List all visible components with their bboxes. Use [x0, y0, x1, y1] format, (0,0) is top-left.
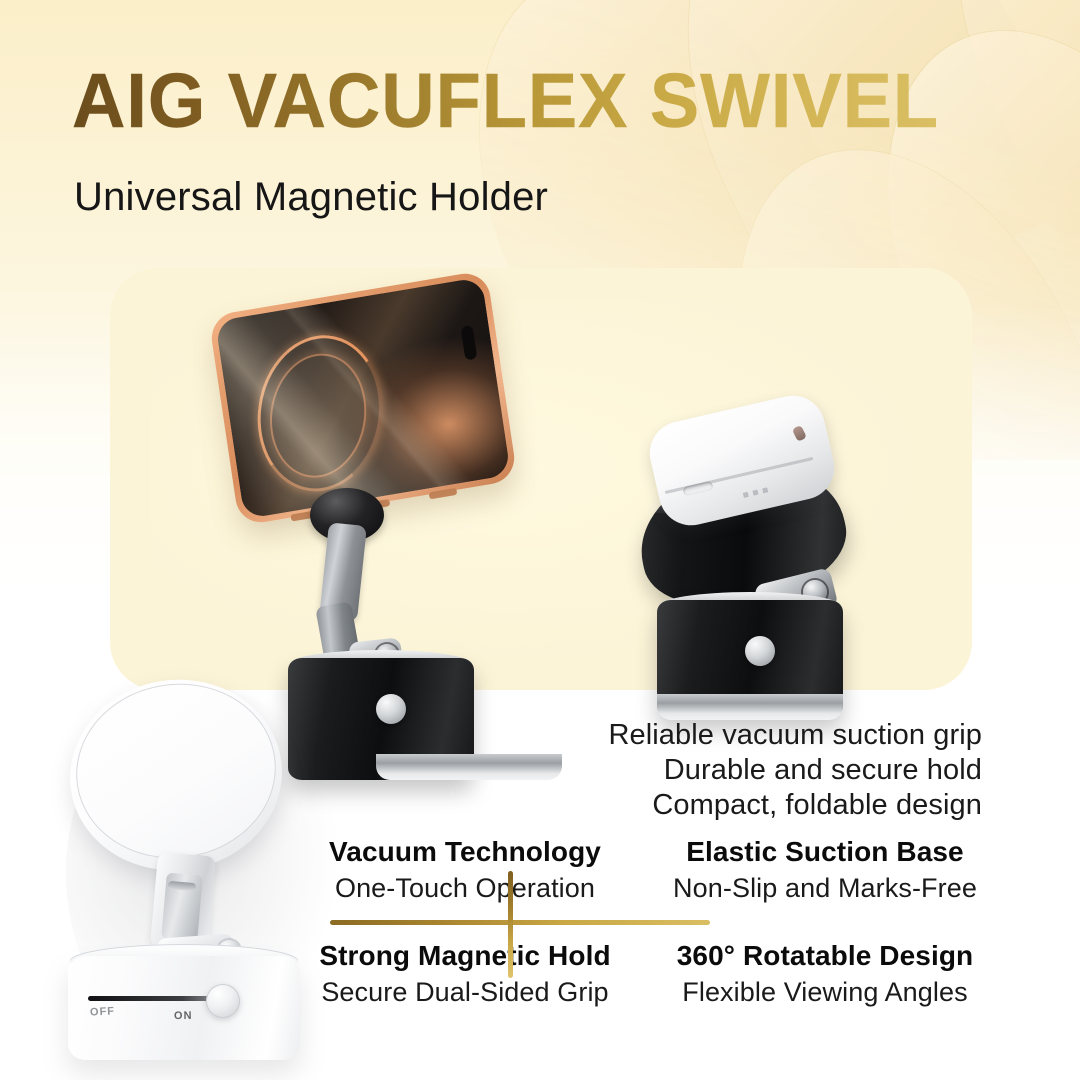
feature-divider-vertical: [508, 871, 513, 978]
feature-subtitle: One-Touch Operation: [295, 870, 635, 906]
benefit-list: Reliable vacuum suction grip Durable and…: [422, 718, 982, 823]
base-lever-track: [392, 1072, 512, 1076]
base-lever-knob: [376, 694, 406, 724]
base-bottom-ring: [657, 694, 843, 720]
feature-cell-strong-magnetic-hold: Strong Magnetic Hold Secure Dual-Sided G…: [295, 938, 635, 1010]
product-poster: AIG VACUFLEX SWIVEL 360 Universal Magnet…: [0, 0, 1080, 1080]
earbuds-case-button: [792, 425, 807, 442]
benefit-list-item: Compact, foldable design: [422, 788, 982, 823]
feature-grid: Vacuum Technology One-Touch Operation El…: [300, 834, 1040, 1024]
page-title: AIG VACUFLEX SWIVEL 360: [72, 58, 936, 144]
feature-cell-360-rotatable-design: 360° Rotatable Design Flexible Viewing A…: [655, 938, 995, 1010]
switch-label-on: ON: [174, 1010, 193, 1022]
feature-divider-horizontal: [330, 920, 710, 925]
switch-label-off: OFF: [90, 1005, 116, 1018]
benefit-list-item: Durable and secure hold: [422, 753, 982, 788]
feature-cell-elastic-suction-base: Elastic Suction Base Non-Slip and Marks-…: [655, 834, 995, 906]
feature-subtitle: Flexible Viewing Angles: [655, 974, 995, 1010]
feature-title: Elastic Suction Base: [655, 834, 995, 870]
feature-subtitle: Non-Slip and Marks-Free: [655, 870, 995, 906]
feature-cell-vacuum-technology: Vacuum Technology One-Touch Operation: [295, 834, 635, 906]
base-lever-track: [88, 996, 218, 1001]
phone-on-stand-photo: [200, 292, 520, 692]
feature-title: Strong Magnetic Hold: [295, 938, 635, 974]
smartphone-device: [208, 270, 517, 526]
earbuds-on-stand-photo: [615, 408, 895, 680]
feature-title: Vacuum Technology: [295, 834, 635, 870]
feature-subtitle: Secure Dual-Sided Grip: [295, 974, 635, 1010]
base-lever-knob: [745, 636, 775, 666]
smartphone-screen: [215, 277, 511, 519]
base-lever-knob: [206, 984, 240, 1018]
feature-title: 360° Rotatable Design: [655, 938, 995, 974]
smartphone-edge-detail: [429, 488, 458, 500]
benefit-list-item: Reliable vacuum suction grip: [422, 718, 982, 753]
page-subtitle: Universal Magnetic Holder: [74, 173, 548, 221]
